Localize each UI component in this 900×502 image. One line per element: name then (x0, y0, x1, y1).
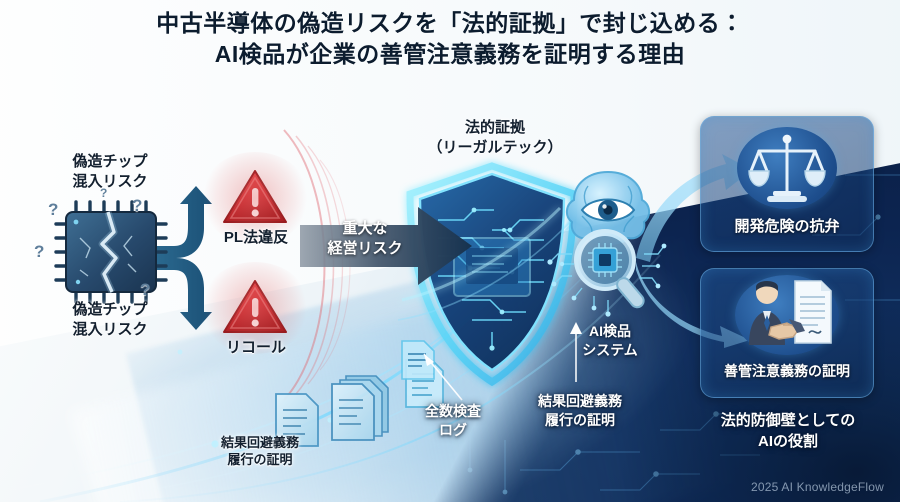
chip-risk-label-bottom: 偽造チップ 混入リスク (35, 300, 185, 340)
callout-pointer-log (400, 342, 480, 404)
major-risk-label: 重大な 経営リスク (310, 219, 420, 259)
scales-of-justice-icon (747, 131, 827, 207)
major-risk-banner: 重大な 経営リスク (300, 205, 475, 287)
risk-item-recall (222, 278, 288, 336)
broken-chip-icon (40, 192, 180, 312)
question-mark-icon: ? (48, 200, 58, 220)
risk-item-pl (222, 168, 288, 226)
risk-label-pl: PL法違反 (192, 228, 320, 248)
legal-evidence-caption: 法的証拠（リーガルテック） (395, 118, 595, 158)
watermark: 2025 AI KnowledgeFlow (751, 480, 884, 494)
question-mark-icon: ? (140, 280, 150, 300)
magnifier-chip-icon (576, 231, 646, 310)
ai-system-label: AI検品 システム (552, 322, 668, 360)
outcome-card-duty-of-care[interactable]: 善管注意義務の証明 (700, 268, 874, 398)
outcome-label-development-risk: 開発危険の抗弁 (701, 215, 873, 236)
ai-inspection-graphic (548, 168, 668, 338)
chip-risk-label-top: 偽造チップ 混入リスク (35, 152, 185, 192)
legal-evidence-line2: （リーガルテック） (427, 139, 562, 156)
outcome-card-development-risk[interactable]: 開発危険の抗弁 (700, 116, 874, 252)
risk-label-recall: リコール (192, 338, 320, 358)
evidence-label-log: 全数検査 ログ (398, 402, 508, 440)
title-line-1: 中古半導体の偽造リスクを「法的証拠」で封じ込める： (0, 8, 900, 39)
infographic-canvas: 中古半導体の偽造リスクを「法的証拠」で封じ込める： AI検品が企業の善管注意義務… (0, 0, 900, 502)
counterfeit-chip-graphic: ? ? ? ? ? (40, 192, 180, 312)
outcome-label-duty-of-care: 善管注意義務の証明 (701, 361, 873, 381)
legal-evidence-line1: 法的証拠 (465, 119, 525, 136)
title-line-2: AI検品が企業の善管注意義務を証明する理由 (0, 39, 900, 70)
question-mark-icon: ? (34, 242, 44, 262)
evidence-label-right: 結果回避義務 履行の証明 (512, 392, 648, 430)
evidence-label-left: 結果回避義務 履行の証明 (180, 434, 340, 468)
question-mark-icon: ? (132, 196, 142, 216)
conclusion-label: 法的防御壁としての AIの役割 (696, 410, 880, 452)
page-title: 中古半導体の偽造リスクを「法的証拠」で封じ込める： AI検品が企業の善管注意義務… (0, 8, 900, 70)
handshake-document-icon (739, 275, 837, 355)
